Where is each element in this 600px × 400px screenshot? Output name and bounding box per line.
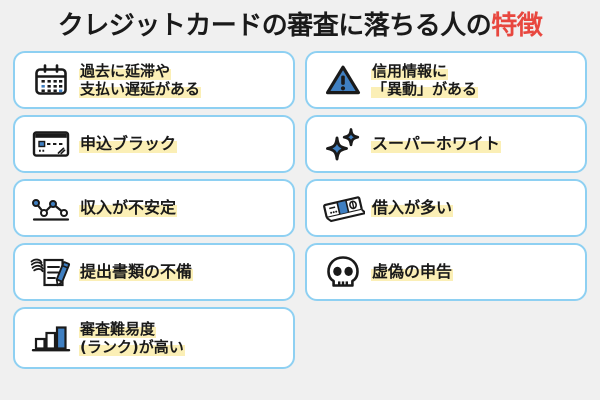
reason-label: 借入が多い <box>369 198 579 218</box>
reason-line: 借入が多い <box>371 198 453 217</box>
title-plain: クレジットカードの審査に落ちる人の <box>58 11 492 41</box>
bar-chart-icon <box>25 316 77 360</box>
title-accent: 特徴 <box>491 11 542 41</box>
grid-cell: 虚偽の申告 <box>300 240 592 304</box>
grid-cell: 申込ブラック <box>8 112 300 176</box>
grid-cell: 収入が不安定 <box>8 176 300 240</box>
document-pencil-icon <box>25 250 77 294</box>
reason-line: 審査難易度 <box>79 320 156 338</box>
grid-cell: 信用情報に 「異動」がある <box>300 48 592 112</box>
reason-card-unstable-income[interactable]: 収入が不安定 <box>13 179 295 237</box>
grid-cell: 過去に延滞や 支払い遅延がある <box>8 48 300 112</box>
reason-line: 信用情報に <box>371 62 448 80</box>
credit-card-icon <box>25 122 77 166</box>
grid-cell: 提出書類の不備 <box>8 240 300 304</box>
title-text: クレジットカードの審査に落ちる人の特徴 <box>58 13 543 39</box>
reason-line: スーパーホワイト <box>371 134 501 153</box>
line-chart-icon <box>25 186 77 230</box>
reason-card-super-white[interactable]: スーパーホワイト <box>305 115 587 173</box>
reason-line: 申込ブラック <box>79 134 177 153</box>
reason-line: 虚偽の申告 <box>371 262 453 281</box>
reason-label: 提出書類の不備 <box>77 262 287 282</box>
reason-card-high-difficulty[interactable]: 審査難易度 (ランク)が高い <box>13 307 295 369</box>
reason-card-credit-info-flag[interactable]: 信用情報に 「異動」がある <box>305 51 587 109</box>
grid-cell: 審査難易度 (ランク)が高い <box>8 304 300 372</box>
reasons-grid: 過去に延滞や 支払い遅延がある 信用情報に 「異動」がある <box>0 48 600 372</box>
skull-icon <box>317 250 369 294</box>
sparkles-icon <box>317 122 369 166</box>
grid-cell: 借入が多い <box>300 176 592 240</box>
reason-card-document-deficiency[interactable]: 提出書類の不備 <box>13 243 295 301</box>
reason-card-past-delinquency[interactable]: 過去に延滞や 支払い遅延がある <box>13 51 295 109</box>
reason-line: 過去に延滞や <box>79 62 171 80</box>
reason-line: 収入が不安定 <box>79 198 177 217</box>
grid-cell: スーパーホワイト <box>300 112 592 176</box>
reason-line: 支払い遅延がある <box>79 80 201 98</box>
reason-label: 虚偽の申告 <box>369 262 579 282</box>
reason-card-many-loans[interactable]: 借入が多い <box>305 179 587 237</box>
reason-label: スーパーホワイト <box>369 134 579 154</box>
reason-label: 審査難易度 (ランク)が高い <box>77 320 287 357</box>
reason-label: 収入が不安定 <box>77 198 287 218</box>
reason-label: 申込ブラック <box>77 134 287 154</box>
warning-triangle-icon <box>317 58 369 102</box>
infographic-page: クレジットカードの審査に落ちる人の特徴 <box>0 0 600 400</box>
banknote-bundle-icon <box>317 186 369 230</box>
reason-label: 信用情報に 「異動」がある <box>369 62 579 99</box>
reason-label: 過去に延滞や 支払い遅延がある <box>77 62 287 99</box>
reason-line: 「異動」がある <box>371 80 478 98</box>
reason-card-application-black[interactable]: 申込ブラック <box>13 115 295 173</box>
reason-line: 提出書類の不備 <box>79 262 193 281</box>
reason-line: (ランク)が高い <box>79 338 185 356</box>
calendar-icon <box>25 58 77 102</box>
reason-card-false-declaration[interactable]: 虚偽の申告 <box>305 243 587 301</box>
page-title: クレジットカードの審査に落ちる人の特徴 <box>0 0 600 48</box>
